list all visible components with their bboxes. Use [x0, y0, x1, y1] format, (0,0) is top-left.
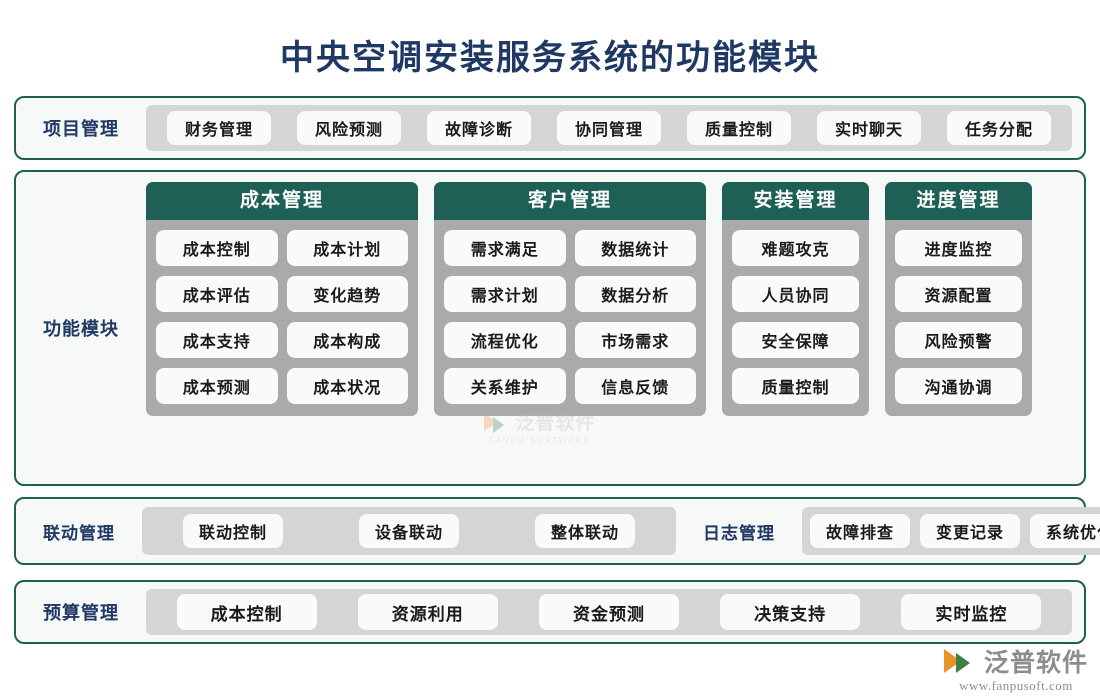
- module-item-chip[interactable]: 人员协同: [732, 276, 859, 312]
- linkage-management-chip[interactable]: 设备联动: [359, 514, 459, 548]
- module-item-chip[interactable]: 风险预警: [895, 322, 1022, 358]
- linkage-management-chip[interactable]: 整体联动: [535, 514, 635, 548]
- linkage-management-group: 联动管理 联动控制设备联动整体联动: [16, 499, 676, 563]
- project-management-chip[interactable]: 任务分配: [947, 111, 1051, 145]
- function-modules-columns: 成本管理成本控制成本计划成本评估变化趋势成本支持成本构成成本预测成本状况客户管理…: [146, 182, 1074, 474]
- budget-management-chip[interactable]: 资金预测: [539, 594, 679, 630]
- module-column-header[interactable]: 进度管理: [885, 182, 1032, 220]
- module-item-chip[interactable]: 变化趋势: [287, 276, 409, 312]
- project-management-chip-tray: 财务管理风险预测故障诊断协同管理质量控制实时聊天任务分配: [146, 105, 1072, 151]
- log-management-chip-tray: 故障排查变更记录系统优化: [802, 507, 1100, 555]
- budget-management-label: 预算管理: [16, 599, 146, 625]
- module-item-chip[interactable]: 数据分析: [575, 276, 697, 312]
- module-item-chip[interactable]: 成本预测: [156, 368, 278, 404]
- project-management-panel: 项目管理 财务管理风险预测故障诊断协同管理质量控制实时聊天任务分配: [14, 96, 1086, 160]
- log-management-label: 日志管理: [676, 519, 802, 544]
- module-column: 进度管理进度监控资源配置风险预警沟通协调: [885, 182, 1032, 416]
- budget-management-chip[interactable]: 实时监控: [901, 594, 1041, 630]
- brand-logo-row: 泛普软件: [944, 643, 1088, 679]
- log-management-chip[interactable]: 故障排查: [810, 514, 910, 548]
- module-item-chip[interactable]: 进度监控: [895, 230, 1022, 266]
- module-column: 客户管理需求满足数据统计需求计划数据分析流程优化市场需求关系维护信息反馈: [434, 182, 706, 416]
- module-item-chip[interactable]: 成本计划: [287, 230, 409, 266]
- budget-management-chip[interactable]: 决策支持: [720, 594, 860, 630]
- module-item-chip[interactable]: 难题攻克: [732, 230, 859, 266]
- module-item-chip[interactable]: 数据统计: [575, 230, 697, 266]
- linkage-and-log-panel: 联动管理 联动控制设备联动整体联动 日志管理 故障排查变更记录系统优化: [14, 497, 1086, 565]
- module-item-chip[interactable]: 成本支持: [156, 322, 278, 358]
- module-column-header[interactable]: 客户管理: [434, 182, 706, 220]
- log-management-chip[interactable]: 变更记录: [920, 514, 1020, 548]
- fanpu-logo-icon: [944, 647, 978, 675]
- budget-management-panel: 预算管理 成本控制资源利用资金预测决策支持实时监控: [14, 580, 1086, 644]
- project-management-chip[interactable]: 风险预测: [297, 111, 401, 145]
- module-item-chip[interactable]: 关系维护: [444, 368, 566, 404]
- module-item-chip[interactable]: 成本构成: [287, 322, 409, 358]
- budget-management-chip[interactable]: 资源利用: [358, 594, 498, 630]
- linkage-management-label: 联动管理: [16, 519, 142, 544]
- function-modules-label: 功能模块: [16, 182, 146, 474]
- project-management-chip[interactable]: 质量控制: [687, 111, 791, 145]
- budget-management-chip-tray: 成本控制资源利用资金预测决策支持实时监控: [146, 589, 1072, 635]
- module-column-body: 成本控制成本计划成本评估变化趋势成本支持成本构成成本预测成本状况: [146, 220, 418, 416]
- module-item-chip[interactable]: 沟通协调: [895, 368, 1022, 404]
- log-management-chip[interactable]: 系统优化: [1030, 514, 1100, 548]
- project-management-chip[interactable]: 实时聊天: [817, 111, 921, 145]
- function-modules-panel: 功能模块 成本管理成本控制成本计划成本评估变化趋势成本支持成本构成成本预测成本状…: [14, 170, 1086, 486]
- linkage-management-chip[interactable]: 联动控制: [183, 514, 283, 548]
- project-management-label: 项目管理: [16, 115, 146, 141]
- log-management-group: 日志管理 故障排查变更记录系统优化: [676, 499, 1100, 563]
- module-item-chip[interactable]: 资源配置: [895, 276, 1022, 312]
- module-item-chip[interactable]: 需求计划: [444, 276, 566, 312]
- module-column-header[interactable]: 成本管理: [146, 182, 418, 220]
- module-column-body: 进度监控资源配置风险预警沟通协调: [885, 220, 1032, 416]
- budget-management-chip[interactable]: 成本控制: [177, 594, 317, 630]
- module-item-chip[interactable]: 市场需求: [575, 322, 697, 358]
- module-column-body: 需求满足数据统计需求计划数据分析流程优化市场需求关系维护信息反馈: [434, 220, 706, 416]
- module-column: 成本管理成本控制成本计划成本评估变化趋势成本支持成本构成成本预测成本状况: [146, 182, 418, 416]
- module-item-chip[interactable]: 成本评估: [156, 276, 278, 312]
- module-item-chip[interactable]: 成本控制: [156, 230, 278, 266]
- module-item-chip[interactable]: 成本状况: [287, 368, 409, 404]
- module-column-header[interactable]: 安装管理: [722, 182, 869, 220]
- brand-url: www.fanpusoft.com: [959, 678, 1073, 694]
- module-column: 安装管理难题攻克人员协同安全保障质量控制: [722, 182, 869, 416]
- module-item-chip[interactable]: 流程优化: [444, 322, 566, 358]
- diagram-canvas: 中央空调安装服务系统的功能模块 项目管理 财务管理风险预测故障诊断协同管理质量控…: [0, 0, 1100, 700]
- module-item-chip[interactable]: 信息反馈: [575, 368, 697, 404]
- module-item-chip[interactable]: 质量控制: [732, 368, 859, 404]
- module-column-body: 难题攻克人员协同安全保障质量控制: [722, 220, 869, 416]
- project-management-chip[interactable]: 协同管理: [557, 111, 661, 145]
- project-management-chip[interactable]: 财务管理: [167, 111, 271, 145]
- linkage-management-chip-tray: 联动控制设备联动整体联动: [142, 507, 676, 555]
- module-item-chip[interactable]: 需求满足: [444, 230, 566, 266]
- brand-logo: 泛普软件 www.fanpusoft.com: [944, 643, 1088, 694]
- module-item-chip[interactable]: 安全保障: [732, 322, 859, 358]
- brand-name: 泛普软件: [984, 643, 1088, 679]
- page-title: 中央空调安装服务系统的功能模块: [0, 36, 1100, 80]
- project-management-chip[interactable]: 故障诊断: [427, 111, 531, 145]
